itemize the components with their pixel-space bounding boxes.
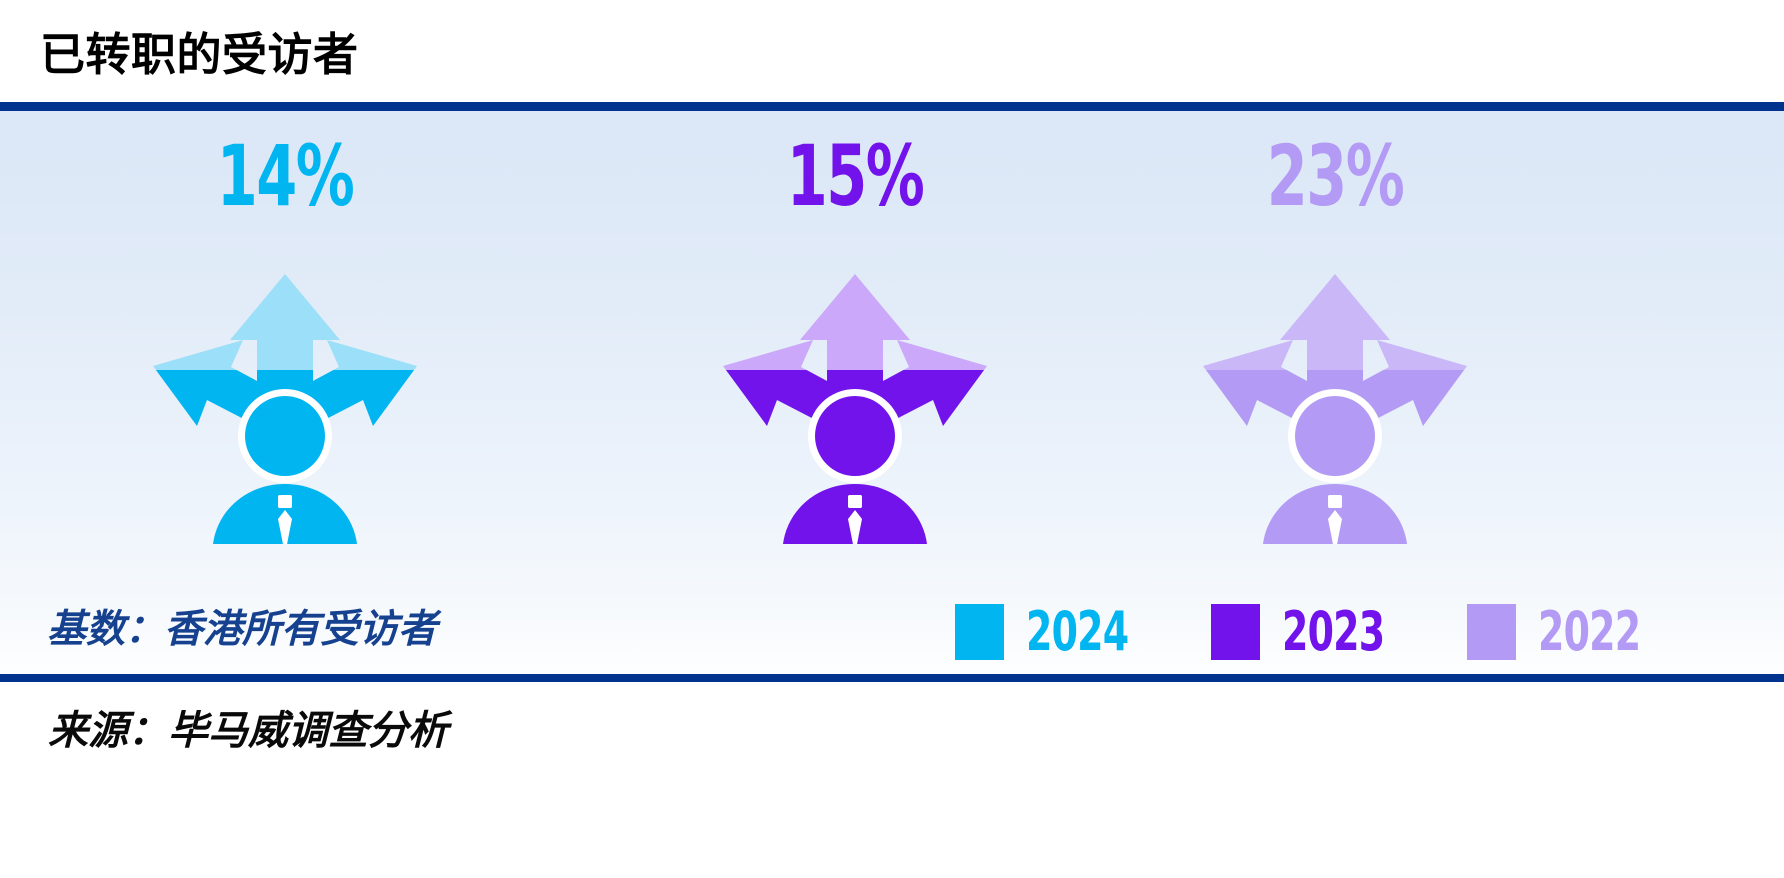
page-title: 已转职的受访者 [40,18,359,83]
chart-columns: 14% [0,120,1784,640]
source-note: 来源：毕马威调查分析 [48,698,448,756]
stat-column-2022: 23% [1075,120,1595,640]
stat-column-2023: 15% [595,120,1115,640]
legend-swatch-2023 [1211,604,1260,660]
legend-label-2023: 2023 [1282,605,1384,659]
legend-item-2023[interactable]: 2023 [1211,604,1413,660]
base-and-legend-row: 基数：香港所有受访者 2024 2023 2022 [0,590,1784,674]
legend: 2024 2023 2022 [955,590,1670,674]
stat-value-2022: 23% [1132,134,1538,218]
person-with-three-arrows-icon-2023 [595,244,1115,554]
infographic-page: 已转职的受访者 14% [0,0,1784,878]
legend-swatch-2024 [955,604,1004,660]
stat-column-2024: 14% [25,120,545,640]
stat-value-2023: 15% [652,134,1058,218]
person-with-three-arrows-icon-2024 [25,244,545,554]
legend-label-2024: 2024 [1026,605,1128,659]
base-note: 基数：香港所有受访者 [47,598,437,654]
person-with-three-arrows-icon-2022 [1075,244,1595,554]
stat-value-2024: 14% [82,134,488,218]
legend-swatch-2022 [1467,604,1516,660]
divider-bottom [0,674,1784,682]
legend-item-2024[interactable]: 2024 [955,604,1157,660]
legend-label-2022: 2022 [1538,605,1640,659]
legend-item-2022[interactable]: 2022 [1467,604,1669,660]
divider-top [0,102,1784,111]
